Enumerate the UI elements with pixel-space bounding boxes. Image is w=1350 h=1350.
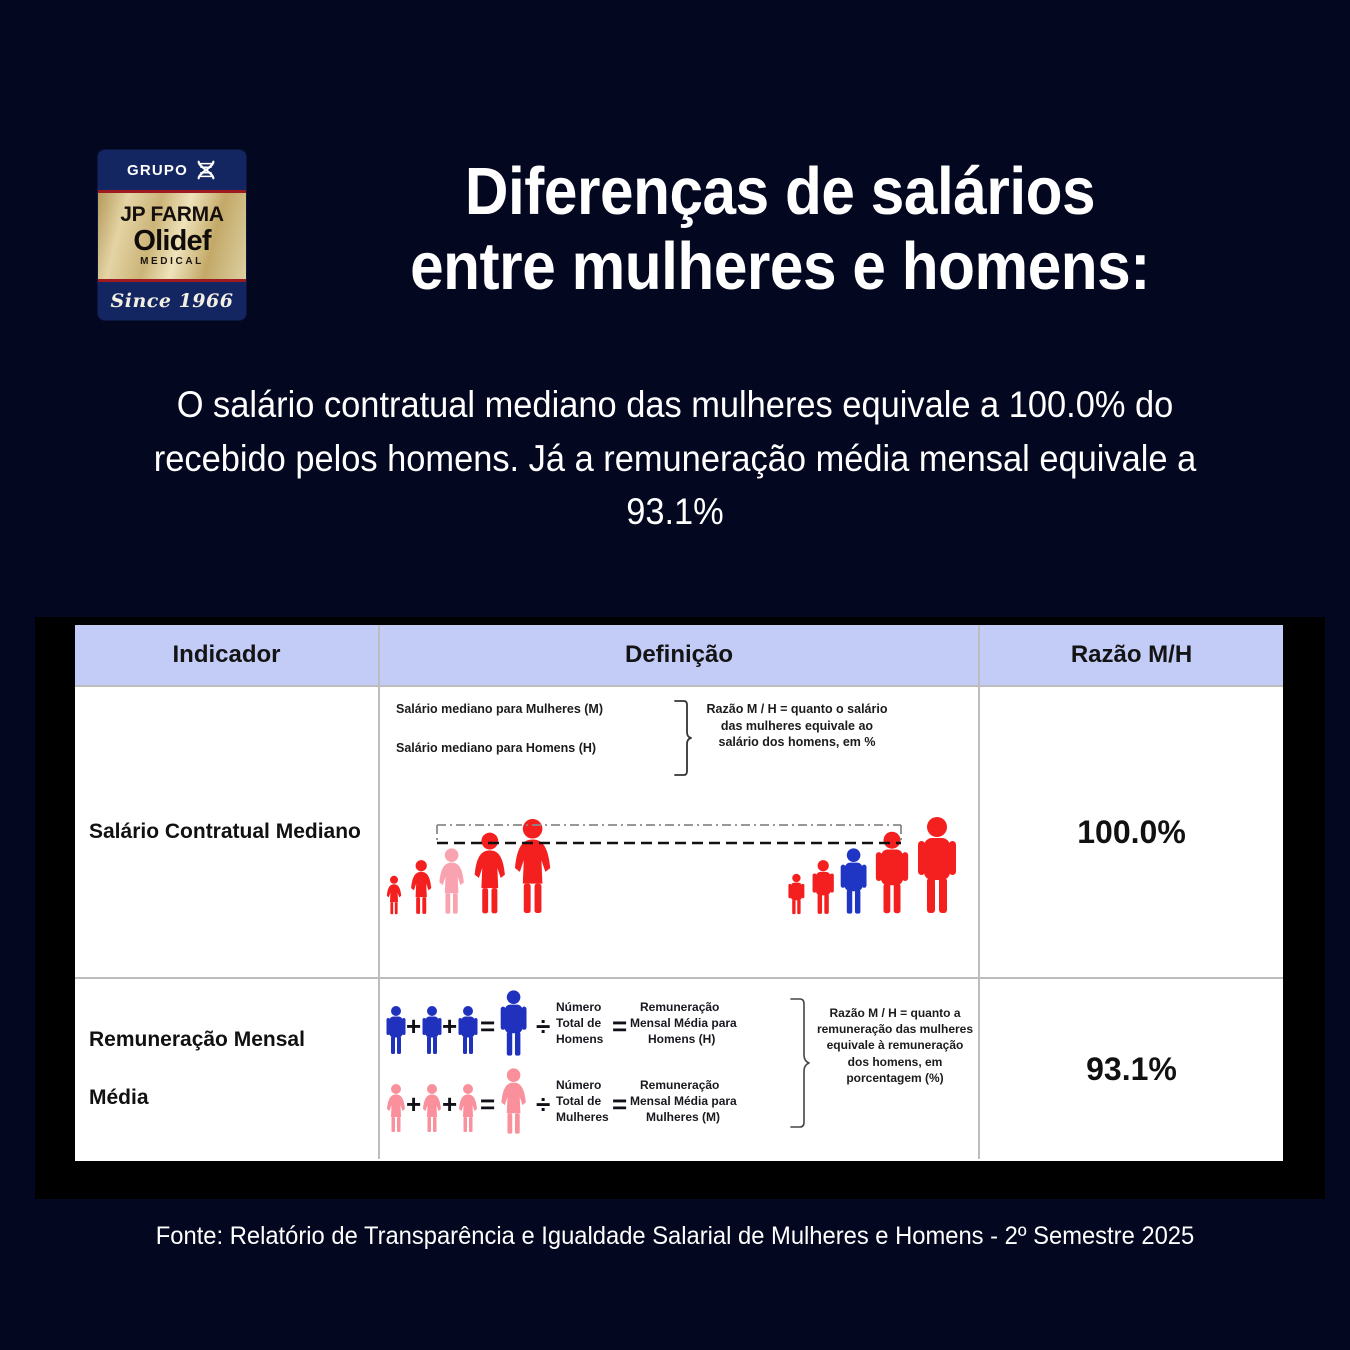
table-row: Salário Contratual Mediano Salário media… xyxy=(75,685,1283,977)
page-title: Diferenças de salários entre mulheres e … xyxy=(330,154,1230,304)
svg-text:+: + xyxy=(442,1089,457,1119)
logo-bottom-band: Since 1966 xyxy=(98,282,246,320)
poster-root: GRUPO JP FARMA Olidef MEDICAL Since 1966 xyxy=(0,0,1350,1350)
table-header-row: Indicador Definição Razão M/H xyxy=(75,625,1283,685)
indicator-label-1-line1: Salário Contratual Mediano xyxy=(89,820,378,844)
indicator-label-2-line2: Média xyxy=(89,1086,378,1110)
definition-1-note: Razão M / H = quanto o salário das mulhe… xyxy=(702,701,892,751)
svg-text:=: = xyxy=(612,1011,627,1041)
column-header-razao: Razão M/H xyxy=(980,625,1283,685)
table-row: Remuneração Mensal Média xyxy=(75,977,1283,1159)
indicator-label-2: Remuneração Mensal Média xyxy=(75,979,378,1159)
ratio-value-1: 100.0% xyxy=(980,687,1283,977)
logo-brand-medical: MEDICAL xyxy=(140,256,204,267)
formula-line-women: Salário mediano para Mulheres (M) xyxy=(396,703,666,717)
table-frame: Indicador Definição Razão M/H Salário Co… xyxy=(35,617,1325,1199)
median-figures-illustration xyxy=(380,803,978,923)
indicator-label-1: Salário Contratual Mediano xyxy=(75,687,378,977)
logo-brand-olidef: Olidef xyxy=(133,228,210,256)
average-equation-illustration: + + = ÷ Número Total de Homens = Remuner… xyxy=(380,979,978,1159)
logo-grupo-label: GRUPO xyxy=(127,162,188,179)
logo-since-label: Since 1966 xyxy=(111,290,234,312)
cell-definition-1: Salário mediano para Mulheres (M) Salári… xyxy=(380,687,980,977)
column-header-indicador: Indicador xyxy=(75,625,380,685)
logo-gold-plate: JP FARMA Olidef MEDICAL xyxy=(98,193,246,279)
svg-text:Total de: Total de xyxy=(556,1016,601,1030)
ratio-value-2: 93.1% xyxy=(980,979,1283,1159)
title-container: Diferenças de salários entre mulheres e … xyxy=(246,150,1350,304)
cell-indicator-2: Remuneração Mensal Média xyxy=(75,979,380,1159)
svg-text:+: + xyxy=(406,1089,421,1119)
company-logo: GRUPO JP FARMA Olidef MEDICAL Since 1966 xyxy=(98,150,246,320)
svg-text:Mulheres (M): Mulheres (M) xyxy=(646,1110,720,1124)
formula-line-men: Salário mediano para Homens (H) xyxy=(396,742,666,756)
svg-text:=: = xyxy=(612,1089,627,1119)
svg-text:Homens (H): Homens (H) xyxy=(648,1032,715,1046)
logo-brand-jpfarma: JP FARMA xyxy=(120,203,223,227)
svg-text:Mulheres: Mulheres xyxy=(556,1110,609,1124)
svg-text:Mensal Média para: Mensal Média para xyxy=(630,1016,737,1030)
indicator-label-2-line1: Remuneração Mensal xyxy=(89,1028,378,1052)
svg-text:÷: ÷ xyxy=(536,1089,550,1119)
definition-1-formula-area: Salário mediano para Mulheres (M) Salári… xyxy=(380,687,978,797)
header: GRUPO JP FARMA Olidef MEDICAL Since 1966 xyxy=(0,150,1350,320)
definition-2-note: Razão M / H = quanto a remuneração das m… xyxy=(816,1005,974,1086)
cell-definition-2: + + = ÷ Número Total de Homens = Remuner… xyxy=(380,979,980,1159)
cell-indicator-1: Salário Contratual Mediano xyxy=(75,687,380,977)
svg-text:Remuneração: Remuneração xyxy=(640,1078,719,1092)
svg-text:Total de: Total de xyxy=(556,1094,601,1108)
cell-ratio-1: 100.0% xyxy=(980,687,1283,977)
svg-text:Homens: Homens xyxy=(556,1032,604,1046)
column-header-definicao: Definição xyxy=(380,625,980,685)
svg-text:Remuneração: Remuneração xyxy=(640,1000,719,1014)
curly-brace-icon xyxy=(672,699,692,777)
curly-brace-icon xyxy=(788,997,810,1129)
logo-top-band: GRUPO xyxy=(98,150,246,190)
svg-text:Número: Número xyxy=(556,1000,601,1014)
cell-ratio-2: 93.1% xyxy=(980,979,1283,1159)
svg-text:+: + xyxy=(442,1011,457,1041)
svg-text:Número: Número xyxy=(556,1078,601,1092)
svg-text:=: = xyxy=(480,1011,495,1041)
page-subtitle: O salário contratual mediano das mulhere… xyxy=(150,378,1201,539)
indicators-table: Indicador Definição Razão M/H Salário Co… xyxy=(75,625,1283,1161)
source-footer: Fonte: Relatório de Transparência e Igua… xyxy=(34,1222,1317,1251)
definition-1-formula: Salário mediano para Mulheres (M) Salári… xyxy=(396,703,666,756)
svg-text:+: + xyxy=(406,1011,421,1041)
svg-text:Mensal Média para: Mensal Média para xyxy=(630,1094,737,1108)
svg-text:÷: ÷ xyxy=(536,1011,550,1041)
dna-helix-icon xyxy=(195,159,217,181)
svg-text:=: = xyxy=(480,1089,495,1119)
